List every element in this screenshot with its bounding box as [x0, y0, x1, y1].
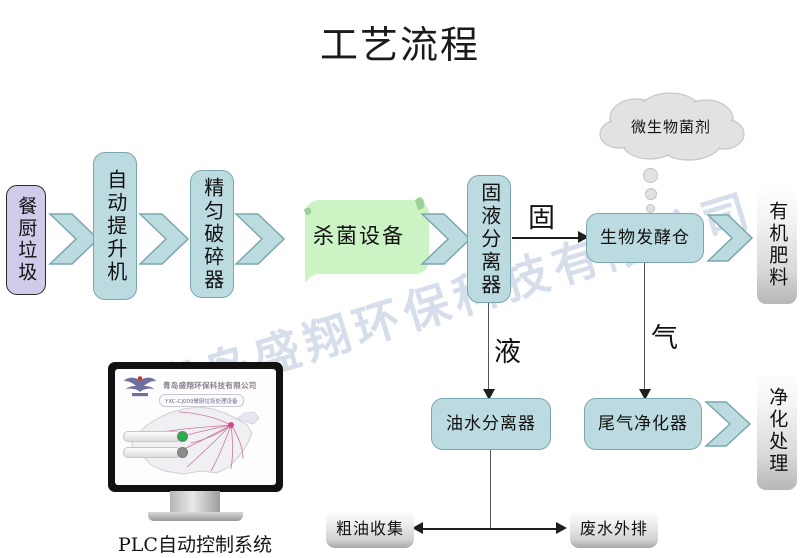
- monitor-slider-2[interactable]: [123, 447, 181, 458]
- node-wastewater-discharge-label: 废水外排: [580, 520, 648, 537]
- node-auto-lifter-label: 自动提升机: [104, 169, 126, 284]
- node-exhaust-purifier-label: 尾气净化器: [598, 415, 688, 433]
- node-organic-fertilizer-label: 有机肥料: [767, 201, 788, 289]
- node-sterilizer-label: 杀菌设备: [289, 220, 429, 250]
- edge-label-liquid: 液: [494, 330, 521, 369]
- node-fine-crusher-label: 精匀破碎器: [201, 177, 223, 292]
- thought-bubble-large: [643, 168, 658, 183]
- node-bio-fermentation-bin[interactable]: 生物发酵仓: [586, 213, 704, 263]
- node-bio-fermentation-bin-label: 生物发酵仓: [600, 229, 690, 247]
- node-kitchen-waste[interactable]: 餐厨垃圾: [6, 185, 46, 295]
- node-oil-water-separator[interactable]: 油水分离器: [431, 398, 551, 450]
- node-wastewater-discharge[interactable]: 废水外排: [570, 510, 658, 548]
- thought-bubble-small: [646, 204, 655, 213]
- node-fine-crusher[interactable]: 精匀破碎器: [190, 170, 234, 298]
- status-indicator-gray: [177, 447, 188, 458]
- connector-liquid: [488, 303, 489, 391]
- node-exhaust-purifier[interactable]: 尾气净化器: [584, 398, 702, 450]
- monitor-company-name: 青岛盛翔环保科技有限公司: [163, 380, 257, 391]
- monitor-bezel: 青岛盛翔环保科技有限公司 YXC-CJ009餐厨垃圾处理设备: [108, 362, 283, 492]
- node-purification-treatment-label: 净化处理: [767, 387, 788, 475]
- node-oil-water-separator-label: 油水分离器: [446, 415, 536, 433]
- node-purification-treatment[interactable]: 净化处理: [757, 372, 797, 490]
- plc-monitor-caption: PLC自动控制系统: [80, 530, 310, 557]
- monitor-stand-base: [148, 512, 243, 521]
- connector-gas: [644, 263, 645, 391]
- company-logo-icon: [123, 375, 157, 401]
- edge-label-solid: 固: [528, 196, 555, 235]
- connector-oilwater-crossbar: [420, 528, 562, 530]
- microbial-agent-cloud: 微生物菌剂: [592, 92, 750, 164]
- thought-bubble-medium: [645, 188, 657, 200]
- node-solid-liquid-separator[interactable]: 固液分离器: [467, 175, 511, 303]
- monitor-stand-neck: [170, 491, 220, 514]
- node-crude-oil-collection[interactable]: 粗油收集: [326, 510, 414, 548]
- node-organic-fertilizer[interactable]: 有机肥料: [757, 186, 797, 304]
- connector-oilwater-stem: [490, 450, 491, 529]
- flow-arrow-2: [140, 210, 196, 268]
- node-auto-lifter[interactable]: 自动提升机: [93, 152, 137, 300]
- china-map-graphic: [121, 399, 271, 485]
- monitor-screen[interactable]: 青岛盛翔环保科技有限公司 YXC-CJ009餐厨垃圾处理设备: [115, 369, 276, 485]
- edge-label-gas: 气: [651, 316, 678, 355]
- connector-solid: [512, 237, 582, 239]
- node-solid-liquid-separator-label: 固液分离器: [478, 182, 500, 297]
- microbial-agent-label: 微生物菌剂: [592, 116, 750, 137]
- plc-monitor[interactable]: 青岛盛翔环保科技有限公司 YXC-CJ009餐厨垃圾处理设备: [108, 362, 283, 558]
- node-sterilizer[interactable]: 杀菌设备: [289, 192, 429, 282]
- connector-wastewater-arrowhead: [556, 522, 567, 534]
- process-flow-diagram: 工艺流程 青岛盛翔环保科技有限公司: [0, 0, 800, 558]
- flow-arrow-3: [236, 210, 292, 268]
- page-title: 工艺流程: [0, 14, 800, 69]
- flow-arrow-6: [706, 399, 758, 449]
- node-kitchen-waste-label: 餐厨垃圾: [16, 196, 37, 284]
- monitor-slider-1[interactable]: [123, 431, 181, 442]
- status-indicator-green: [177, 431, 188, 442]
- node-crude-oil-collection-label: 粗油收集: [336, 520, 404, 537]
- flow-arrow-5: [708, 212, 760, 264]
